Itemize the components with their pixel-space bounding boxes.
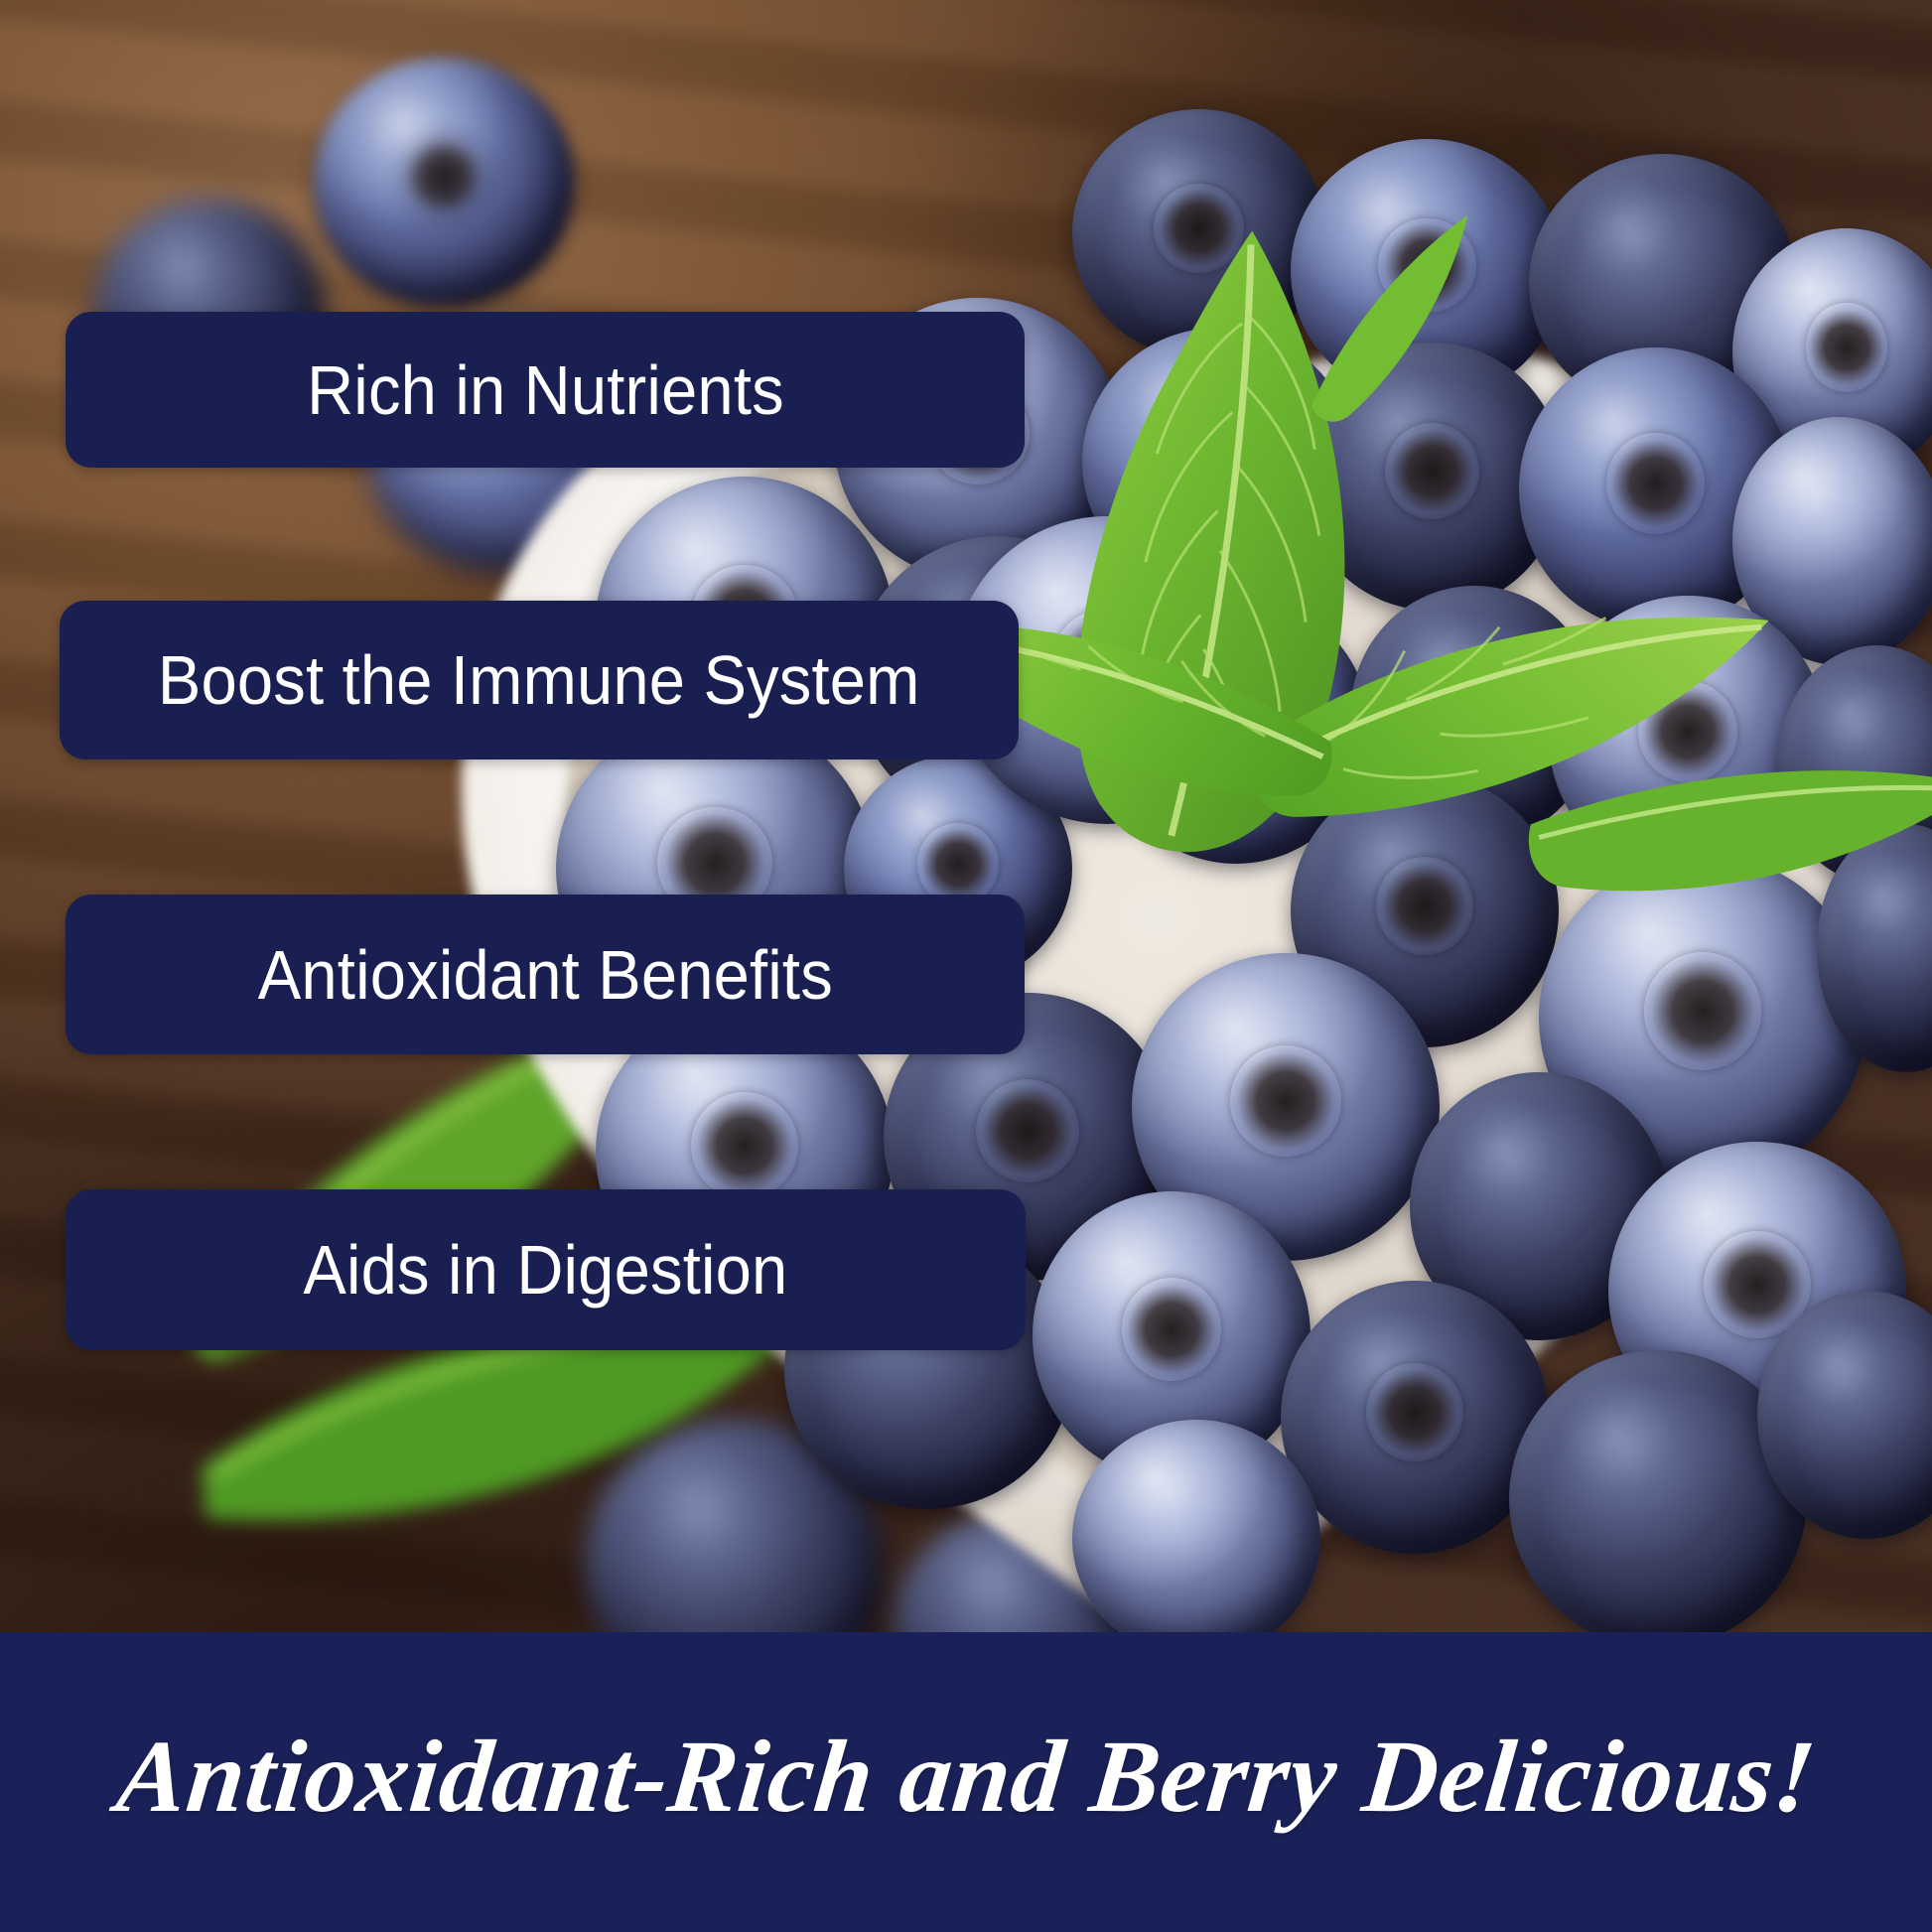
benefit-label-3: Antioxidant Benefits <box>257 940 832 1010</box>
leaf-far-right <box>1506 645 1932 1014</box>
benefit-label-1: Rich in Nutrients <box>307 355 784 425</box>
benefit-pill-antioxidant-benefits[interactable]: Antioxidant Benefits <box>66 895 1025 1054</box>
tagline-text: Antioxidant-Rich and Berry Delicious! <box>111 1718 1821 1836</box>
benefit-pill-rich-in-nutrients[interactable]: Rich in Nutrients <box>66 312 1025 468</box>
benefit-pill-boost-the-immune-system[interactable]: Boost the Immune System <box>60 601 1019 759</box>
tagline-banner: Antioxidant-Rich and Berry Delicious! <box>0 1632 1932 1932</box>
benefit-pill-aids-in-digestion[interactable]: Aids in Digestion <box>66 1189 1026 1350</box>
benefit-label-2: Boost the Immune System <box>158 645 920 715</box>
benefit-label-4: Aids in Digestion <box>303 1235 787 1305</box>
poster-canvas: Rich in Nutrients Boost the Immune Syste… <box>0 0 1932 1932</box>
